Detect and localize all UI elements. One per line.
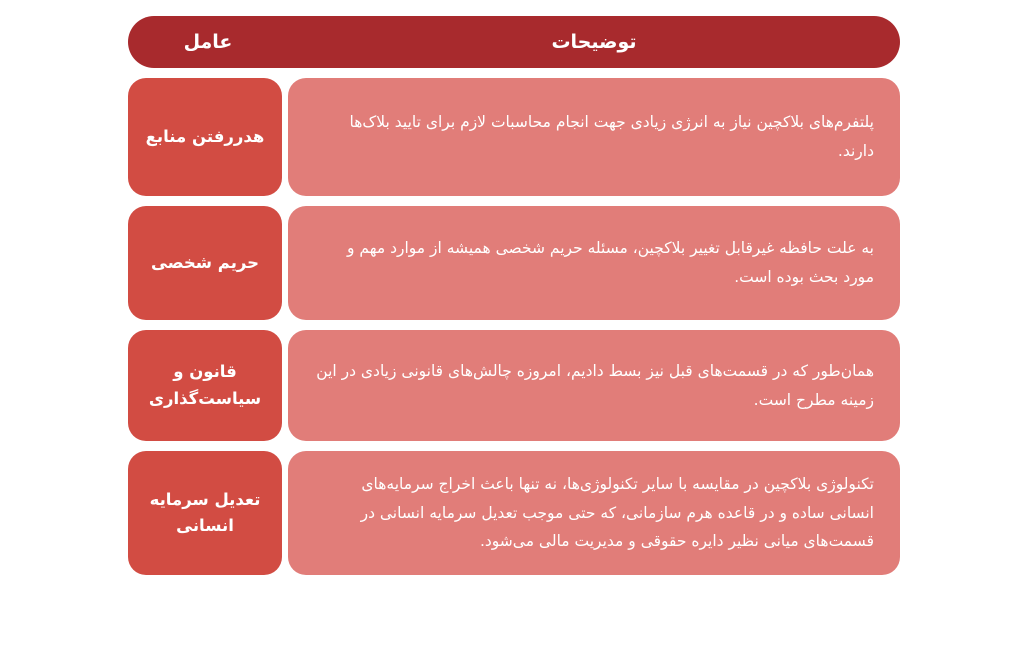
table-row: همان‌طور که در قسمت‌های قبل نیز بسط دادی…	[128, 330, 900, 441]
factor-label: حریم شخصی	[151, 250, 259, 276]
description-cell: همان‌طور که در قسمت‌های قبل نیز بسط دادی…	[288, 330, 900, 441]
factor-label: تعدیل سرمایه انسانی	[136, 487, 274, 540]
description-text: به علت حافظه غیرقابل تغییر بلاکچین، مسئل…	[314, 234, 874, 291]
factor-label: هدررفتن منابع	[146, 124, 265, 150]
description-text: تکنولوژی بلاکچین در مقایسه با سایر تکنول…	[314, 470, 874, 556]
description-cell: به علت حافظه غیرقابل تغییر بلاکچین، مسئل…	[288, 206, 900, 320]
description-cell: تکنولوژی بلاکچین در مقایسه با سایر تکنول…	[288, 451, 900, 575]
table-header-factor: عامل	[128, 16, 288, 68]
table-row: پلتفرم‌های بلاکچین نیاز به انرژی زیادی ج…	[128, 78, 900, 196]
description-text: پلتفرم‌های بلاکچین نیاز به انرژی زیادی ج…	[314, 108, 874, 165]
factor-cell: حریم شخصی	[128, 206, 282, 320]
factors-table: توضیحات عامل پلتفرم‌های بلاکچین نیاز به …	[128, 16, 900, 575]
factor-cell: قانون و سیاست‌گذاری	[128, 330, 282, 441]
description-cell: پلتفرم‌های بلاکچین نیاز به انرژی زیادی ج…	[288, 78, 900, 196]
table-row: به علت حافظه غیرقابل تغییر بلاکچین، مسئل…	[128, 206, 900, 320]
description-text: همان‌طور که در قسمت‌های قبل نیز بسط دادی…	[314, 357, 874, 414]
factor-label: قانون و سیاست‌گذاری	[136, 359, 274, 412]
factor-cell: هدررفتن منابع	[128, 78, 282, 196]
factor-cell: تعدیل سرمایه انسانی	[128, 451, 282, 575]
table-header-description: توضیحات	[288, 16, 900, 68]
table-row: تکنولوژی بلاکچین در مقایسه با سایر تکنول…	[128, 451, 900, 575]
table-header-row: توضیحات عامل	[128, 16, 900, 68]
